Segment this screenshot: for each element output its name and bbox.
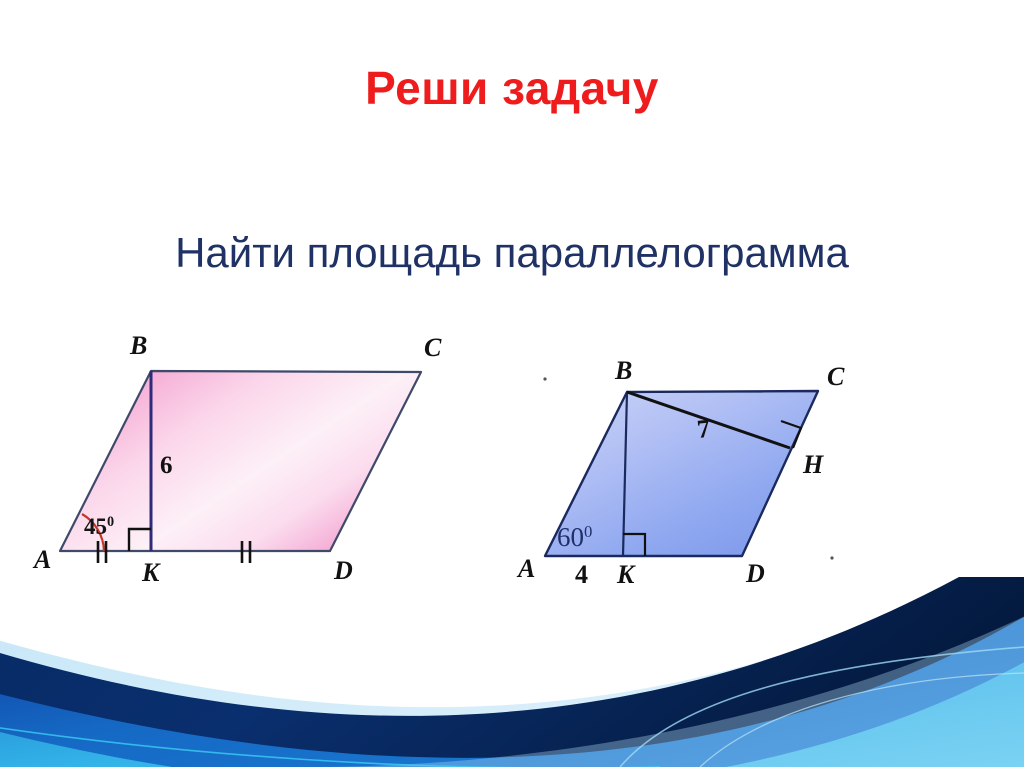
vertex-label-c: C	[827, 362, 845, 391]
vertex-label-h: H	[802, 450, 824, 479]
slide-canvas: Реши задачу Найти площадь параллелограмм…	[0, 0, 1024, 767]
swoosh-layer-blue	[0, 605, 1024, 767]
vertex-label-a: A	[516, 554, 535, 583]
vertex-label-k: K	[616, 560, 636, 589]
vertex-label-b: B	[129, 331, 147, 360]
vertex-label-d: D	[333, 556, 353, 585]
figure-parallelogram-pink: A B C D K 6 450	[20, 325, 460, 595]
vertex-label-a: A	[32, 545, 51, 574]
shape-parallelogram-abcd	[60, 371, 421, 551]
swoosh-layer-cyan	[0, 651, 1024, 767]
decorative-swoosh	[0, 577, 1024, 767]
vertex-label-c: C	[424, 333, 442, 362]
base-value-4: 4	[575, 560, 588, 589]
height-value-6: 6	[160, 452, 173, 479]
swoosh-layer-navy	[0, 577, 1024, 767]
page-title: Реши задачу	[0, 62, 1024, 114]
swoosh-arc-1	[620, 647, 1024, 767]
vertex-label-k: K	[141, 558, 161, 587]
figure-parallelogram-blue: A B C D K H 4 7 600	[505, 355, 895, 600]
artifact-dot-left	[543, 377, 546, 380]
swoosh-layer-light	[320, 607, 1024, 767]
swoosh-layer-pale	[0, 577, 1024, 767]
task-statement: Найти площадь параллелограмма	[0, 228, 1024, 278]
swoosh-streak	[0, 725, 660, 767]
vertex-label-d: D	[745, 559, 765, 588]
vertex-label-b: B	[614, 356, 632, 385]
swoosh-arc-2	[700, 673, 1024, 767]
artifact-dot-right	[830, 556, 833, 559]
